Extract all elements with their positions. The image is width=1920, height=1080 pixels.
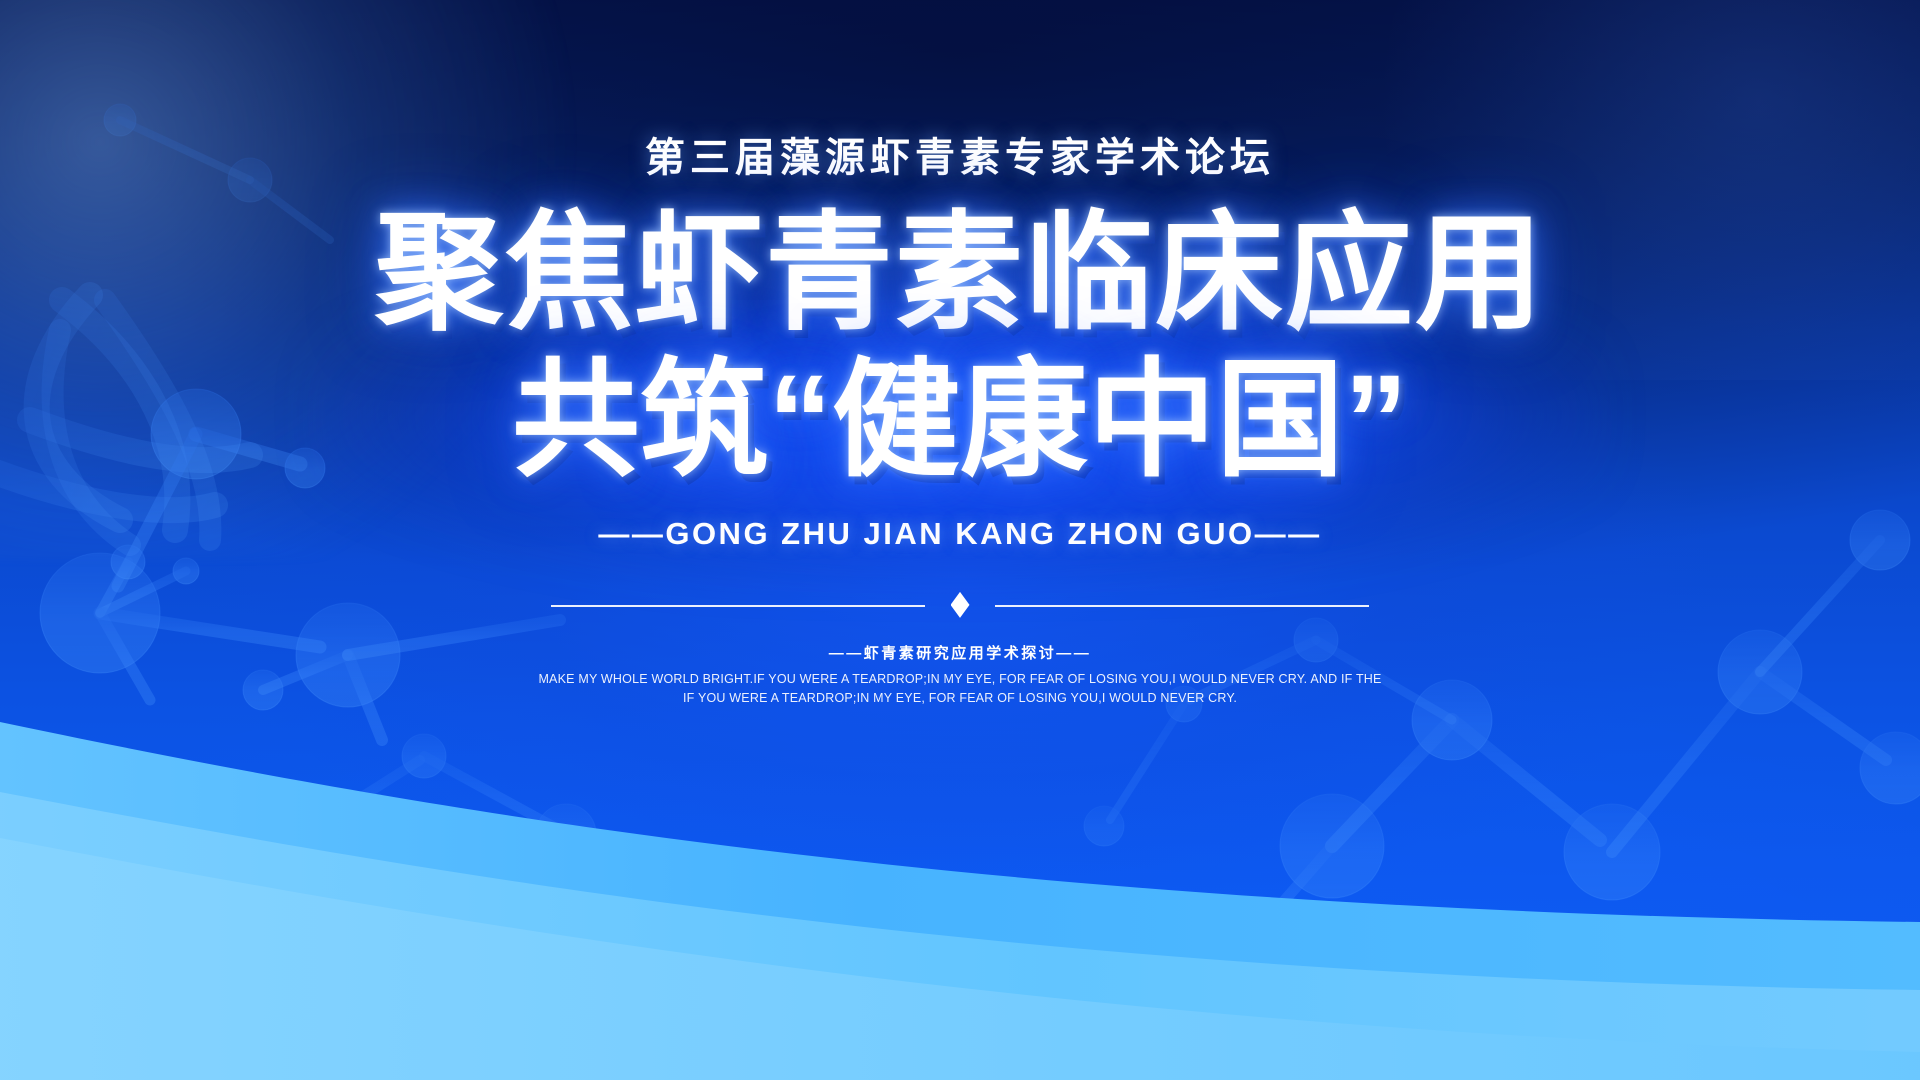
sub-headline-cn: ——虾青素研究应用学术探讨—— bbox=[829, 642, 1092, 663]
divider-line-right bbox=[995, 605, 1369, 607]
divider bbox=[551, 590, 1369, 620]
title-pinyin: ——GONG ZHU JIAN KANG ZHON GUO—— bbox=[598, 516, 1321, 552]
poster-canvas: 第三届藻源虾青素专家学术论坛 聚焦虾青素临床应用 共筑“健康中国” ——GONG… bbox=[0, 0, 1920, 1080]
diamond-icon bbox=[951, 592, 970, 618]
title-line-1: 聚焦虾青素临床应用 bbox=[375, 206, 1545, 343]
main-title: 聚焦虾青素临床应用 共筑“健康中国” bbox=[375, 206, 1545, 490]
divider-line-left bbox=[551, 605, 925, 607]
event-subtitle: 第三届藻源虾青素专家学术论坛 bbox=[645, 138, 1275, 178]
sub-headline-en-line-1: MAKE MY WHOLE WORLD BRIGHT.IF YOU WERE A… bbox=[415, 670, 1505, 689]
sub-headline-en-line-2: IF YOU WERE A TEARDROP;IN MY EYE, FOR FE… bbox=[415, 689, 1505, 708]
title-line-2: 共筑“健康中国” bbox=[375, 353, 1545, 490]
poster-content: 第三届藻源虾青素专家学术论坛 聚焦虾青素临床应用 共筑“健康中国” ——GONG… bbox=[0, 0, 1920, 1080]
sub-headline-en: MAKE MY WHOLE WORLD BRIGHT.IF YOU WERE A… bbox=[415, 670, 1505, 708]
